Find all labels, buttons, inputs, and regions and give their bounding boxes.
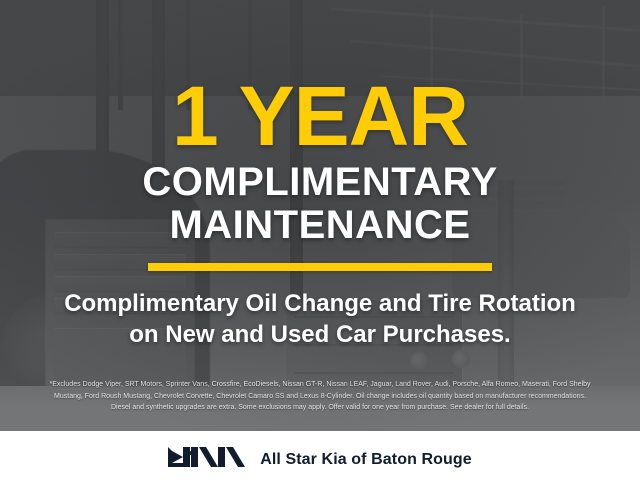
kia-logo (168, 444, 246, 475)
banner-content: 1 YEAR COMPLIMENTARY MAINTENANCE Complim… (0, 0, 640, 488)
fine-print-line-3: Diesel and synthetic upgrades are extra.… (8, 402, 632, 414)
subtitle-line-2: on New and Used Car Purchases. (64, 320, 576, 350)
dealer-footer: All Star Kia of Baton Rouge (0, 431, 640, 488)
subtitle-block: Complimentary Oil Change and Tire Rotati… (64, 289, 576, 350)
fine-print-line-2: Mustang, Ford Roush Mustang, Chevrolet C… (8, 391, 632, 403)
dealer-name: All Star Kia of Baton Rouge (260, 451, 472, 469)
headline-maintenance: MAINTENANCE (169, 205, 470, 245)
subtitle-line-1: Complimentary Oil Change and Tire Rotati… (64, 289, 576, 319)
accent-divider-bar (148, 263, 492, 271)
fine-print-line-1: *Excludes Dodge Viper, SRT Motors, Sprin… (8, 379, 632, 391)
headline-year: 1 YEAR (172, 80, 468, 152)
headline-complimentary: COMPLIMENTARY (142, 162, 497, 202)
promotional-banner: 1 YEAR COMPLIMENTARY MAINTENANCE Complim… (0, 0, 640, 488)
fine-print-disclaimer: *Excludes Dodge Viper, SRT Motors, Sprin… (0, 379, 640, 414)
